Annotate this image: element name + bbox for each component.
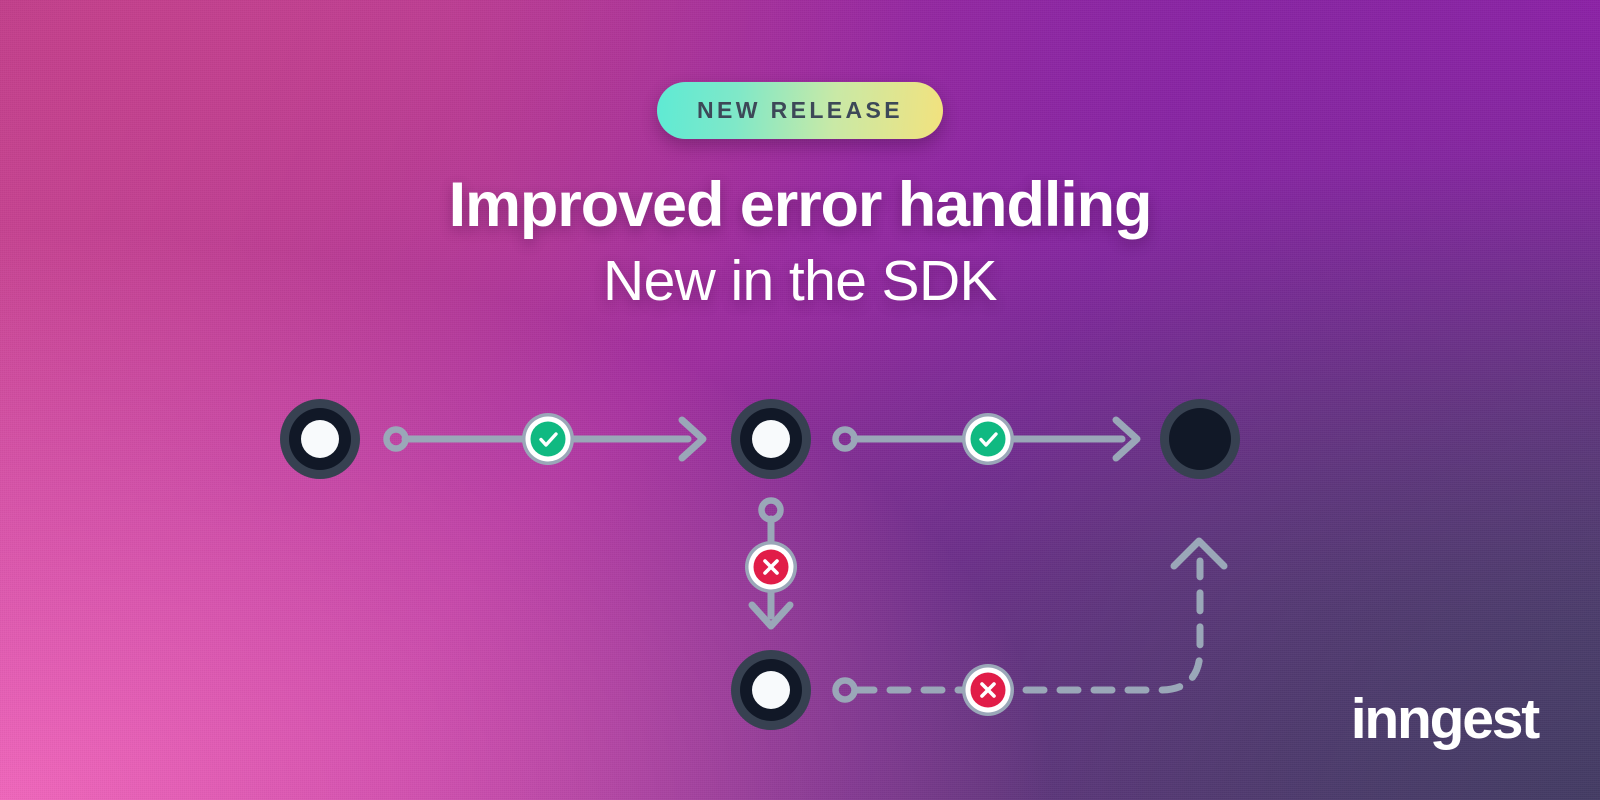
edge-source-dot [836,681,855,700]
workflow-node-step-3[interactable] [1160,399,1240,479]
edge-layer [387,420,1225,700]
status-fill [531,422,566,457]
node-dot [301,420,339,458]
status-badge-error-1[interactable] [745,541,797,593]
workflow-diagram [0,0,1600,800]
workflow-node-step-2[interactable] [731,399,811,479]
node-dot [752,671,790,709]
inngest-logo: inngest [1351,691,1538,748]
status-badge-success-2[interactable] [962,413,1014,465]
workflow-node-step-1[interactable] [280,399,360,479]
workflow-node-step-4[interactable] [731,650,811,730]
status-badge-error-2[interactable] [962,664,1014,716]
status-badge-success-1[interactable] [522,413,574,465]
promo-banner: NEW RELEASE Improved error handling New … [0,0,1600,800]
node-core [1169,408,1231,470]
node-dot [752,420,790,458]
workflow-diagram-svg [0,0,1600,800]
edge-step4-step3 [836,541,1225,700]
status-fill [971,422,1006,457]
edge-line-dashed [856,561,1200,690]
